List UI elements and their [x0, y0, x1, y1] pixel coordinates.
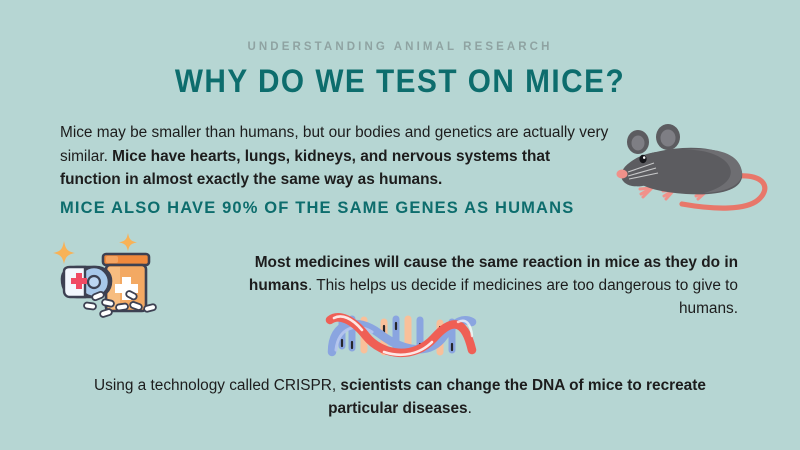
- subheading-genes: MICE ALSO HAVE 90% OF THE SAME GENES AS …: [60, 199, 680, 218]
- paragraph-1-bold: Mice have hearts, lungs, kidneys, and ne…: [60, 148, 550, 189]
- kicker-text: UNDERSTANDING ANIMAL RESEARCH: [0, 41, 800, 53]
- paragraph-3-regular: Using a technology called CRISPR,: [94, 377, 340, 394]
- page-title: WHY DO WE TEST ON MICE?: [28, 62, 772, 100]
- paragraph-3-bold: scientists can change the DNA of mice to…: [328, 377, 706, 417]
- dna-helix-illustration: [322, 306, 480, 368]
- mouse-illustration: [612, 126, 798, 210]
- infographic-canvas: UNDERSTANDING ANIMAL RESEARCH WHY DO WE …: [0, 0, 800, 450]
- paragraph-3: Using a technology called CRISPR, scient…: [90, 374, 710, 420]
- paragraph-3-period: .: [468, 400, 472, 417]
- medicine-illustration: [44, 231, 196, 319]
- paragraph-1: Mice may be smaller than humans, but our…: [60, 121, 610, 192]
